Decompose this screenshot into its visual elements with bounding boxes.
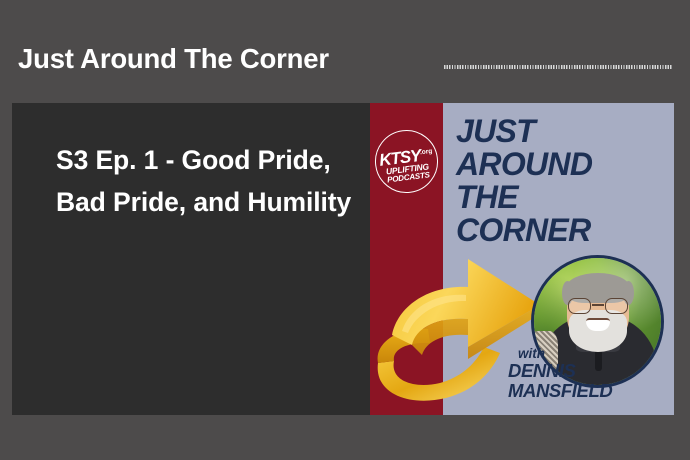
artwork-headline-line-1: JUST xyxy=(456,115,592,148)
avatar-smile xyxy=(586,318,610,331)
host-credit-name-line1: DENNIS xyxy=(508,361,612,381)
page-title: Just Around The Corner xyxy=(18,42,329,76)
header-divider xyxy=(444,65,672,69)
glasses-left-lens xyxy=(568,298,591,314)
host-credit-prefix: with xyxy=(518,346,612,361)
artwork-headline-line-3: THE xyxy=(456,181,592,214)
artwork-headline-line-2: AROUND xyxy=(456,148,592,181)
episode-title: S3 Ep. 1 - Good Pride, Bad Pride, and Hu… xyxy=(56,139,356,223)
podcast-artwork[interactable]: KTSY.org UPLIFTING PODCASTS JUST AROUND … xyxy=(370,103,678,415)
header: Just Around The Corner xyxy=(0,42,690,88)
artwork-headline: JUST AROUND THE CORNER xyxy=(456,115,592,247)
artwork-host-credit: with DENNIS MANSFIELD xyxy=(508,346,612,400)
dotted-rule xyxy=(444,65,672,69)
artwork-right-edge xyxy=(674,103,678,415)
glasses-bridge xyxy=(592,304,604,306)
glasses-icon xyxy=(567,298,629,314)
glasses-right-lens xyxy=(605,298,628,314)
host-credit-name-line2: MANSFIELD xyxy=(508,381,612,401)
episode-panel: S3 Ep. 1 - Good Pride, Bad Pride, and Hu… xyxy=(12,103,370,415)
podcast-episode-card: Just Around The Corner S3 Ep. 1 - Good P… xyxy=(0,0,690,460)
ktsy-domain-text: .org xyxy=(420,148,433,156)
